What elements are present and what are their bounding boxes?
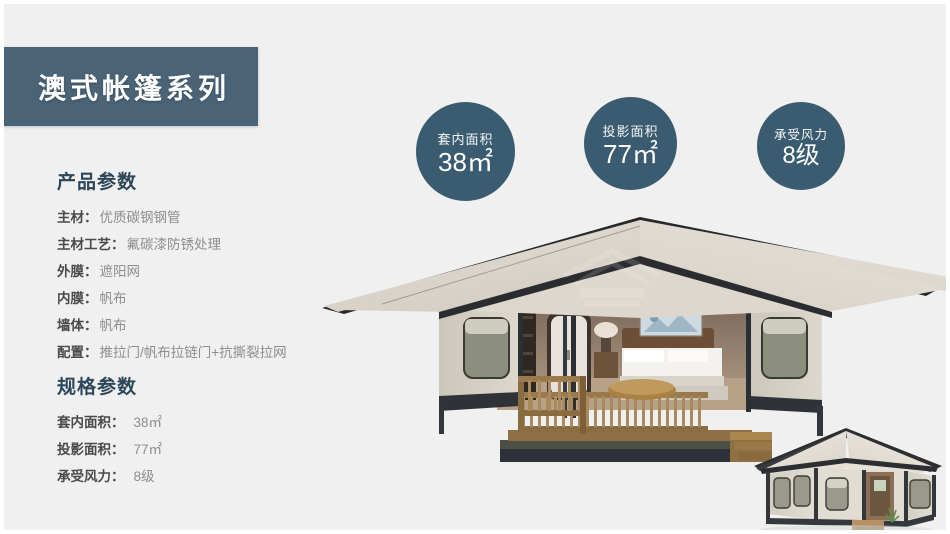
stat-badge-wind-resistance: 承受风力 8级 [757, 102, 845, 190]
list-item: 内膜：帆布 [57, 285, 357, 312]
stat-badge-value: 8级 [782, 144, 819, 168]
stat-badge-label: 套内面积 [437, 129, 493, 148]
slide-canvas: 澳式帐篷系列 产品参数 主材：优质碳钢钢管 主材工艺：氟碳漆防锈处理 外膜：遮阳… [0, 0, 950, 534]
tent-render-thumbnail [746, 422, 950, 534]
spec-label: 配置： [57, 345, 98, 360]
spec-value: 帆布 [100, 318, 127, 333]
spec-params-panel: 规格参数 套内面积：38㎡ 投影面积：77㎡ 承受风力：8级 [57, 372, 357, 490]
list-item: 投影面积：77㎡ [57, 436, 357, 463]
spec-label: 墙体： [57, 318, 98, 333]
stat-badge-value: 77㎡ [603, 141, 658, 167]
spec-label: 承受风力： [57, 469, 125, 484]
spec-value: 帆布 [100, 291, 127, 306]
spec-value: 推拉门/帆布拉链门+抗撕裂拉网 [100, 345, 287, 360]
product-params-panel: 产品参数 主材：优质碳钢钢管 主材工艺：氟碳漆防锈处理 外膜：遮阳网 内膜：帆布… [57, 167, 357, 366]
spec-value: 77㎡ [134, 442, 163, 457]
title-banner: 澳式帐篷系列 [0, 47, 258, 126]
spec-label: 投影面积： [57, 442, 125, 457]
spec-value: 遮阳网 [100, 264, 141, 279]
spec-value: 38㎡ [134, 415, 163, 430]
list-item: 承受风力：8级 [57, 463, 357, 490]
spec-value: 优质碳钢钢管 [100, 210, 181, 225]
spec-value: 氟碳漆防锈处理 [127, 237, 222, 252]
spec-label: 套内面积： [57, 415, 125, 430]
spec-label: 外膜： [57, 264, 98, 279]
list-item: 套内面积：38㎡ [57, 409, 357, 436]
list-item: 主材工艺：氟碳漆防锈处理 [57, 231, 357, 258]
stat-badge-label: 承受风力 [774, 124, 828, 143]
stat-badge-interior-area: 套内面积 38㎡ [416, 102, 515, 201]
product-params-list: 主材：优质碳钢钢管 主材工艺：氟碳漆防锈处理 外膜：遮阳网 内膜：帆布 墙体：帆… [57, 204, 357, 366]
page-title: 澳式帐篷系列 [26, 67, 230, 107]
spec-label: 主材： [57, 210, 98, 225]
list-item: 主材：优质碳钢钢管 [57, 204, 357, 231]
spec-label: 内膜： [57, 291, 98, 306]
stat-badge-projected-area: 投影面积 77㎡ [584, 97, 677, 190]
stat-badge-value: 38㎡ [438, 149, 493, 175]
spec-value: 8级 [134, 469, 155, 484]
spec-params-list: 套内面积：38㎡ 投影面积：77㎡ 承受风力：8级 [57, 409, 357, 490]
product-params-heading: 产品参数 [57, 167, 357, 194]
list-item: 配置：推拉门/帆布拉链门+抗撕裂拉网 [57, 339, 357, 366]
spec-label: 主材工艺： [57, 237, 125, 252]
spec-params-heading: 规格参数 [57, 372, 357, 399]
stat-badge-label: 投影面积 [602, 121, 658, 140]
list-item: 外膜：遮阳网 [57, 258, 357, 285]
list-item: 墙体：帆布 [57, 312, 357, 339]
